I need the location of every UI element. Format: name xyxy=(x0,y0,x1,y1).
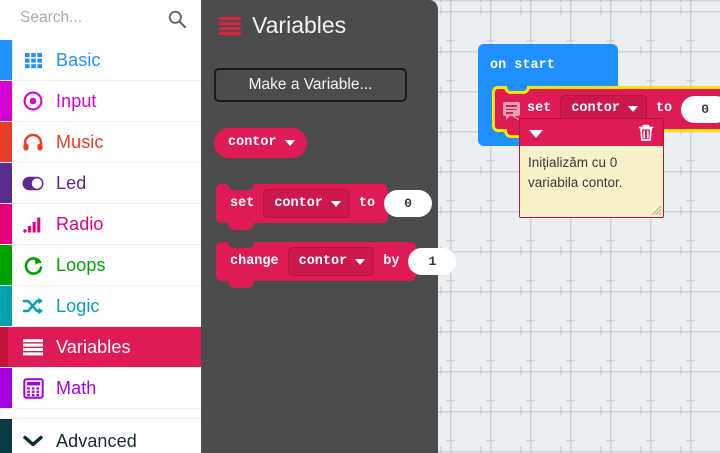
category-color-strip xyxy=(0,122,12,162)
ws-set-connector-label: to xyxy=(656,102,672,116)
category-color-strip xyxy=(0,368,12,408)
trash-icon[interactable] xyxy=(637,123,655,143)
ws-set-variable-name: contor xyxy=(571,102,620,116)
lines-icon xyxy=(219,17,241,35)
category-color-strip xyxy=(0,204,12,244)
sidebar-item-math[interactable]: Math xyxy=(0,368,201,409)
sidebar-item-label: Logic xyxy=(56,296,100,317)
resize-handle-icon[interactable] xyxy=(651,205,662,216)
sidebar-item-variables[interactable]: Variables xyxy=(0,327,201,368)
headphones-icon xyxy=(22,131,44,153)
toolbox-sidebar[interactable]: Basic Input Music Led Radio Loops Logic xyxy=(0,0,201,453)
makecode-editor: Variables Make a Variable... contor set … xyxy=(0,0,720,453)
variable-reporter-block[interactable]: contor xyxy=(214,128,307,158)
comment-text[interactable]: Inițializăm cu 0 variabila contor. xyxy=(520,146,663,217)
change-variable-name: contor xyxy=(299,255,348,269)
sidebar-item-label: Math xyxy=(56,378,96,399)
search-icon[interactable] xyxy=(167,9,187,29)
sidebar-item-logic[interactable]: Logic xyxy=(0,286,201,327)
change-variable-block[interactable]: change contor by 1 xyxy=(216,242,416,281)
category-color-strip xyxy=(0,81,12,121)
sidebar-item-label: Radio xyxy=(56,214,104,235)
sidebar-item-label: Loops xyxy=(56,255,106,276)
toggle-icon xyxy=(22,172,44,194)
ws-set-keyword-label: set xyxy=(527,102,551,116)
variable-name-label: contor xyxy=(228,136,277,150)
category-color-strip xyxy=(0,40,12,80)
sidebar-item-input[interactable]: Input xyxy=(0,81,201,122)
set-connector-label: to xyxy=(359,197,375,211)
make-a-variable-button[interactable]: Make a Variable... xyxy=(214,68,407,102)
sidebar-item-music[interactable]: Music xyxy=(0,122,201,163)
change-value-input[interactable]: 1 xyxy=(408,248,456,275)
category-color-strip xyxy=(0,286,12,326)
sidebar-item-basic[interactable]: Basic xyxy=(0,40,201,81)
block-comment[interactable]: Inițializăm cu 0 variabila contor. xyxy=(519,118,664,218)
set-variable-block[interactable]: set contor to 0 xyxy=(216,184,388,223)
comment-icon[interactable] xyxy=(503,102,520,116)
category-color-strip xyxy=(0,245,12,285)
set-variable-dropdown[interactable]: contor xyxy=(263,189,350,218)
sidebar-item-label: Input xyxy=(56,91,97,112)
change-variable-dropdown[interactable]: contor xyxy=(288,247,375,276)
sidebar-item-label: Basic xyxy=(56,50,101,71)
caret-down-icon[interactable] xyxy=(529,130,543,138)
set-keyword-label: set xyxy=(230,197,254,211)
target-icon xyxy=(22,90,44,112)
sidebar-item-label: Music xyxy=(56,132,104,153)
caret-down-icon[interactable] xyxy=(355,259,365,265)
category-separator xyxy=(0,409,201,419)
calculator-icon xyxy=(22,377,44,399)
sidebar-item-led[interactable]: Led xyxy=(0,163,201,204)
sidebar-item-radio[interactable]: Radio xyxy=(0,204,201,245)
category-color-strip xyxy=(0,327,8,367)
sidebar-item-loops[interactable]: Loops xyxy=(0,245,201,286)
flyout-title: Variables xyxy=(252,12,346,39)
search-input[interactable] xyxy=(20,9,160,27)
ws-set-value-input[interactable]: 0 xyxy=(681,96,720,123)
set-value-input[interactable]: 0 xyxy=(384,190,432,217)
caret-down-icon[interactable] xyxy=(628,106,638,112)
flyout-header: Variables xyxy=(219,12,346,39)
caret-down-icon[interactable] xyxy=(331,201,341,207)
shuffle-icon xyxy=(22,295,44,317)
loop-arrow-icon xyxy=(22,254,44,276)
chevron-down-icon xyxy=(22,430,44,452)
category-color-strip xyxy=(0,163,12,203)
lines-icon xyxy=(22,336,44,358)
sidebar-item-label: Advanced xyxy=(56,431,137,452)
search-row[interactable] xyxy=(0,0,201,40)
sidebar-item-label: Led xyxy=(56,173,86,194)
grid-icon xyxy=(22,49,44,71)
category-color-strip xyxy=(0,419,12,453)
change-connector-label: by xyxy=(383,255,399,269)
caret-down-icon[interactable] xyxy=(285,140,295,146)
set-variable-name: contor xyxy=(274,197,323,211)
category-list: Basic Input Music Led Radio Loops Logic xyxy=(0,40,201,409)
change-keyword-label: change xyxy=(230,255,279,269)
sidebar-item-label: Variables xyxy=(56,337,131,358)
comment-header[interactable] xyxy=(520,119,663,146)
on-start-label: on start xyxy=(490,58,555,73)
sidebar-item-advanced[interactable]: Advanced xyxy=(0,419,201,453)
signal-bars-icon xyxy=(22,213,44,235)
